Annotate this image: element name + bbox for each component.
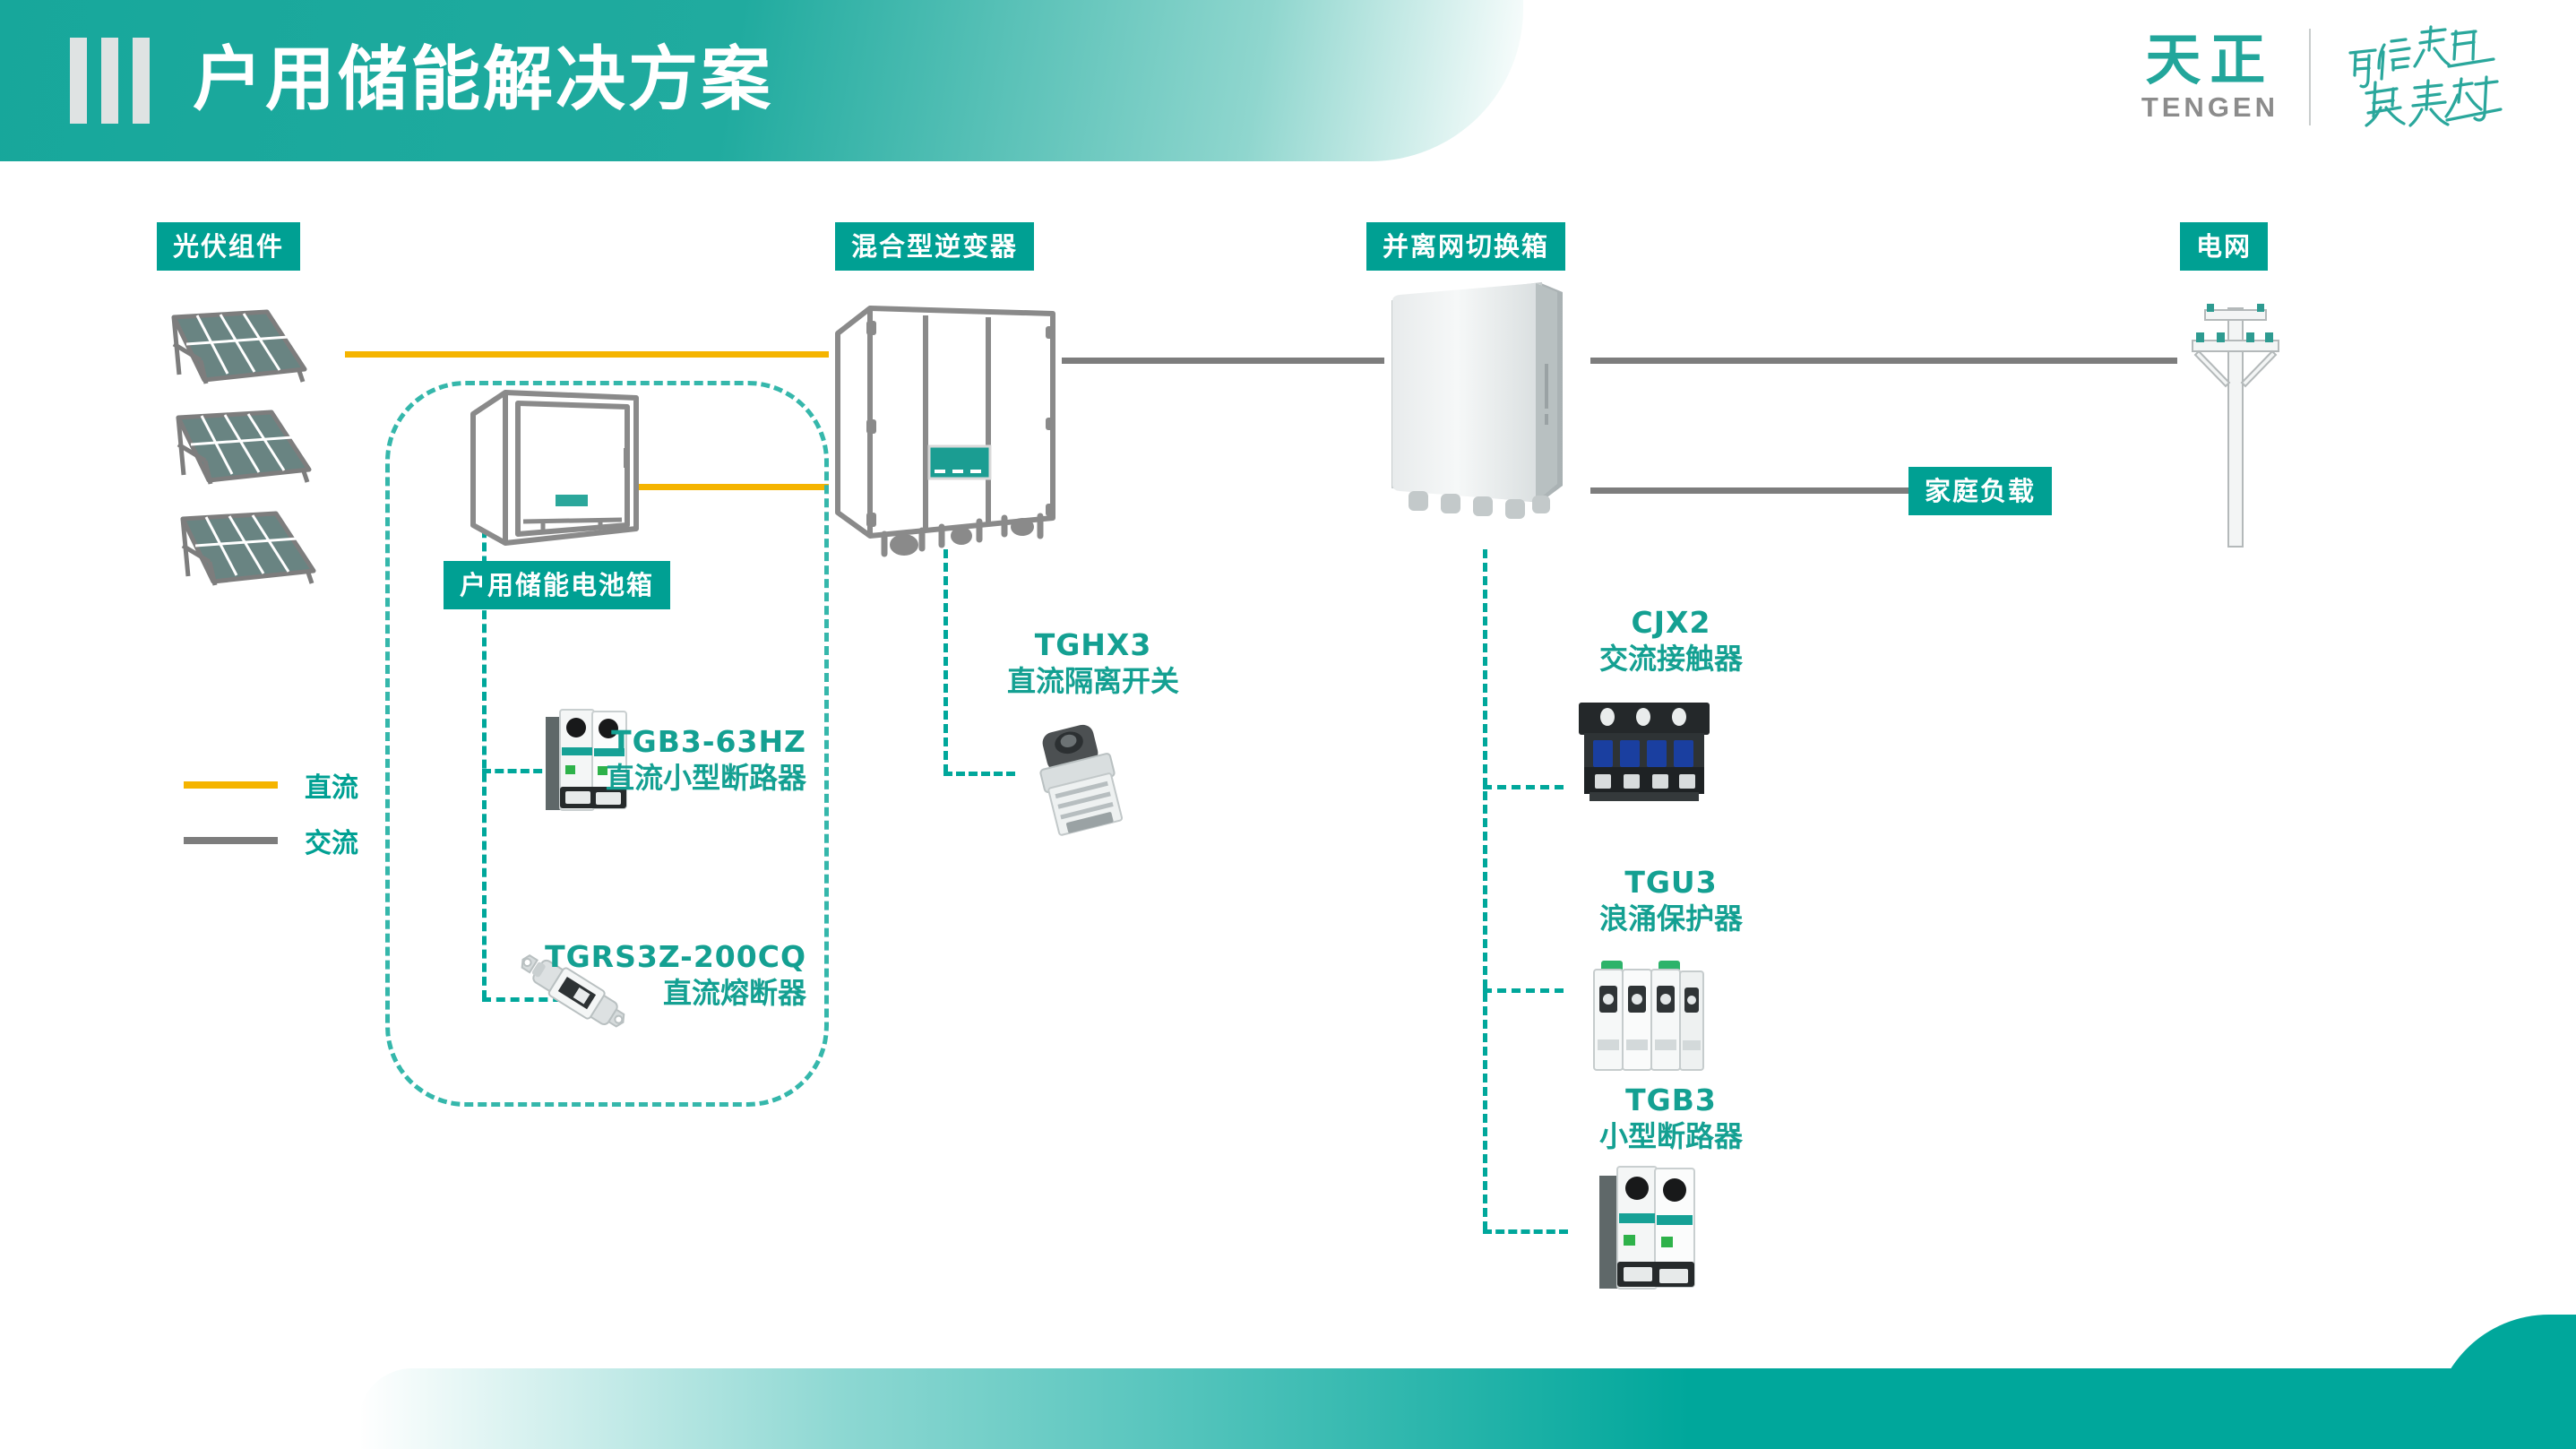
legend-label-dc: 直流 xyxy=(305,765,358,805)
tghx3-image xyxy=(1017,717,1151,851)
badge-switchbox: 并离网切换箱 xyxy=(1366,222,1565,271)
tghx3-name: 直流隔离开关 xyxy=(977,663,1210,699)
dc-line-pv-to-inverter xyxy=(345,351,829,358)
dash-to-tghx3 xyxy=(943,772,1015,776)
legend-swatch-dc xyxy=(184,781,278,789)
tghx3-callout: TGHX3 直流隔离开关 xyxy=(977,627,1210,699)
badge-hybrid-inverter: 混合型逆变器 xyxy=(835,222,1034,271)
solar-panel-2 xyxy=(166,405,318,499)
tgrs3z-name: 直流熔断器 xyxy=(538,975,806,1011)
logo-divider xyxy=(2309,29,2311,125)
tgb3-callout: TGB3 小型断路器 xyxy=(1559,1082,1783,1154)
logo-english-name: TENGEN xyxy=(2141,91,2279,124)
switchbox-image xyxy=(1387,278,1593,569)
badge-battery-box: 户用储能电池箱 xyxy=(444,561,670,609)
legend: 直流 交流 xyxy=(184,757,358,868)
tgb3-63hz-callout: TGB3-63HZ 直流小型断路器 xyxy=(564,724,806,796)
solar-panel-1 xyxy=(161,305,314,399)
cjx2-image xyxy=(1568,690,1720,820)
utility-pole-image xyxy=(2177,296,2294,569)
legend-item-ac: 交流 xyxy=(184,813,358,868)
dash-switchbox-spine xyxy=(1483,549,1487,1230)
tgrs3z-callout: TGRS3Z-200CQ 直流熔断器 xyxy=(538,939,806,1011)
ac-line-switchbox-to-grid xyxy=(1590,358,2177,364)
tghx3-code: TGHX3 xyxy=(977,627,1210,663)
logo-chinese-name: 天正 xyxy=(2145,30,2274,90)
dash-to-tgu3 xyxy=(1483,988,1564,993)
cjx2-callout: CJX2 交流接触器 xyxy=(1559,605,1783,677)
ac-line-switchbox-to-home-load xyxy=(1590,487,1908,494)
tgu3-callout: TGU3 浪涌保护器 xyxy=(1559,865,1783,936)
tgb3-63hz-code: TGB3-63HZ xyxy=(564,724,806,760)
tgb3-code: TGB3 xyxy=(1559,1082,1783,1118)
badge-home-load: 家庭负载 xyxy=(1908,467,2052,515)
legend-swatch-ac xyxy=(184,837,278,844)
brand-slogan-handwriting xyxy=(2341,23,2511,131)
tgrs3z-code: TGRS3Z-200CQ xyxy=(538,939,806,975)
badge-pv-modules: 光伏组件 xyxy=(157,222,300,271)
header-bars-icon xyxy=(70,38,150,124)
ac-line-inverter-to-switchbox xyxy=(1062,358,1384,364)
dash-to-cjx2 xyxy=(1483,785,1564,789)
header-banner: 户用储能解决方案 xyxy=(0,0,1523,161)
badge-grid: 电网 xyxy=(2180,222,2268,271)
dash-to-tgb3 xyxy=(1483,1229,1568,1234)
brand-logo: 天正 TENGEN xyxy=(2141,23,2511,131)
solar-panel-3 xyxy=(170,506,323,600)
footer-decoration-band xyxy=(358,1368,2576,1449)
cjx2-name: 交流接触器 xyxy=(1559,641,1783,677)
hybrid-inverter-image xyxy=(829,296,1071,569)
tgu3-image xyxy=(1581,950,1716,1084)
legend-item-dc: 直流 xyxy=(184,757,358,813)
page-title: 户用储能解决方案 xyxy=(193,34,773,124)
tgb3-name: 小型断路器 xyxy=(1559,1118,1783,1154)
dash-inverter-spine xyxy=(943,549,948,773)
logo-tengen: 天正 TENGEN xyxy=(2141,30,2279,124)
battery-cabinet-image xyxy=(466,385,645,560)
slide-canvas: 户用储能解决方案 天正 TENGEN xyxy=(0,0,2576,1449)
tgb3-image xyxy=(1590,1156,1707,1304)
tgu3-code: TGU3 xyxy=(1559,865,1783,901)
footer-decoration-corner xyxy=(2433,1315,2576,1449)
legend-label-ac: 交流 xyxy=(305,821,358,860)
tgu3-name: 浪涌保护器 xyxy=(1559,901,1783,936)
tgb3-63hz-name: 直流小型断路器 xyxy=(564,760,806,796)
cjx2-code: CJX2 xyxy=(1559,605,1783,641)
